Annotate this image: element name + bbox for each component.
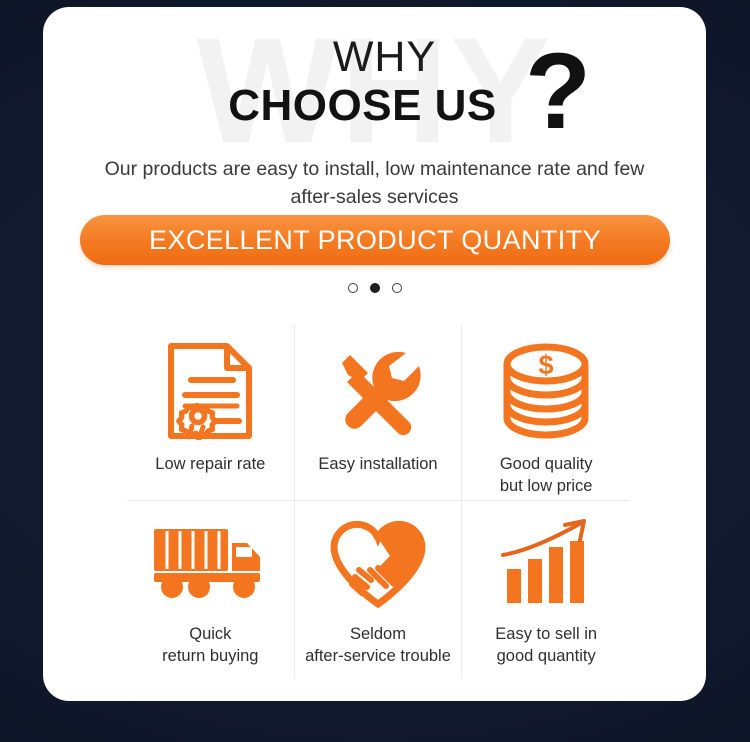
handshake-heart-icon bbox=[326, 511, 430, 615]
tools-icon bbox=[328, 335, 428, 447]
feature-label: Low repair rate bbox=[155, 453, 265, 475]
why-choose-us-card: WHY WHY CHOOSE US ? Our products are eas… bbox=[43, 7, 706, 701]
feature-label: Easy to sell in good quantity bbox=[495, 623, 597, 667]
carousel-dot-1[interactable] bbox=[348, 283, 358, 293]
title-line-1: WHY bbox=[53, 33, 706, 81]
feature-label: Seldom after-service trouble bbox=[305, 623, 451, 667]
highlight-banner-label: EXCELLENT PRODUCT QUANTITY bbox=[149, 225, 601, 256]
truck-icon bbox=[152, 511, 268, 615]
feature-cell-good-quality-low-price[interactable]: $ Good quality but low price bbox=[462, 325, 630, 501]
feature-cell-easy-to-sell[interactable]: Easy to sell in good quantity bbox=[462, 501, 630, 678]
coins-icon: $ bbox=[498, 335, 594, 447]
feature-cell-low-repair-rate[interactable]: Low repair rate bbox=[127, 325, 295, 501]
feature-label: Good quality but low price bbox=[500, 453, 593, 497]
feature-cell-easy-installation[interactable]: Easy installation bbox=[295, 325, 463, 501]
feature-grid: Low repair rate Easy installation bbox=[127, 325, 630, 678]
carousel-dot-2-active[interactable] bbox=[370, 283, 380, 293]
highlight-banner[interactable]: EXCELLENT PRODUCT QUANTITY bbox=[80, 215, 670, 265]
question-mark-icon: ? bbox=[525, 37, 591, 145]
carousel-dots bbox=[43, 283, 706, 293]
feature-cell-quick-return-buying[interactable]: Quick return buying bbox=[127, 501, 295, 678]
feature-label: Quick return buying bbox=[162, 623, 258, 667]
carousel-dot-3[interactable] bbox=[392, 283, 402, 293]
svg-text:$: $ bbox=[539, 350, 554, 380]
page-title: WHY CHOOSE US ? bbox=[43, 33, 706, 145]
subtitle-text: Our products are easy to install, low ma… bbox=[43, 155, 706, 211]
title-line-2: CHOOSE US bbox=[43, 81, 694, 131]
feature-label: Easy installation bbox=[318, 453, 437, 475]
card-header: WHY WHY CHOOSE US ? Our products are eas… bbox=[43, 7, 706, 211]
growth-chart-icon bbox=[495, 511, 597, 615]
feature-cell-seldom-after-service-trouble[interactable]: Seldom after-service trouble bbox=[295, 501, 463, 678]
certificate-icon bbox=[167, 335, 253, 447]
